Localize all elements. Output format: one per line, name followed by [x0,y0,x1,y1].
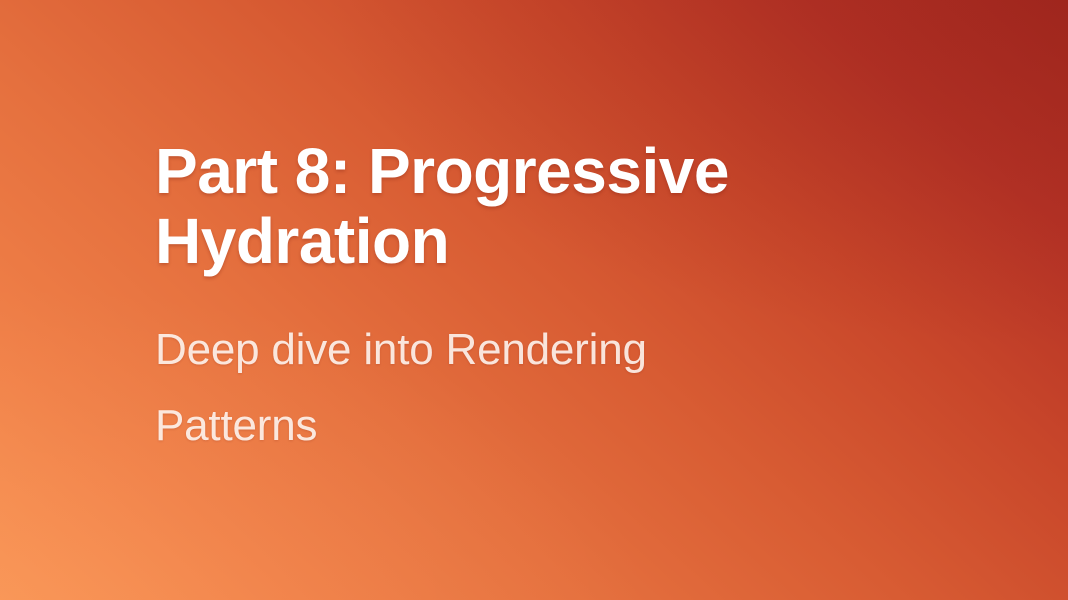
slide-title: Part 8: Progressive Hydration [155,136,770,276]
slide-canvas: Part 8: Progressive Hydration Deep dive … [0,0,1068,600]
slide-subtitle: Deep dive into Rendering Patterns [155,312,770,464]
slide-content-block: Part 8: Progressive Hydration Deep dive … [155,0,795,600]
